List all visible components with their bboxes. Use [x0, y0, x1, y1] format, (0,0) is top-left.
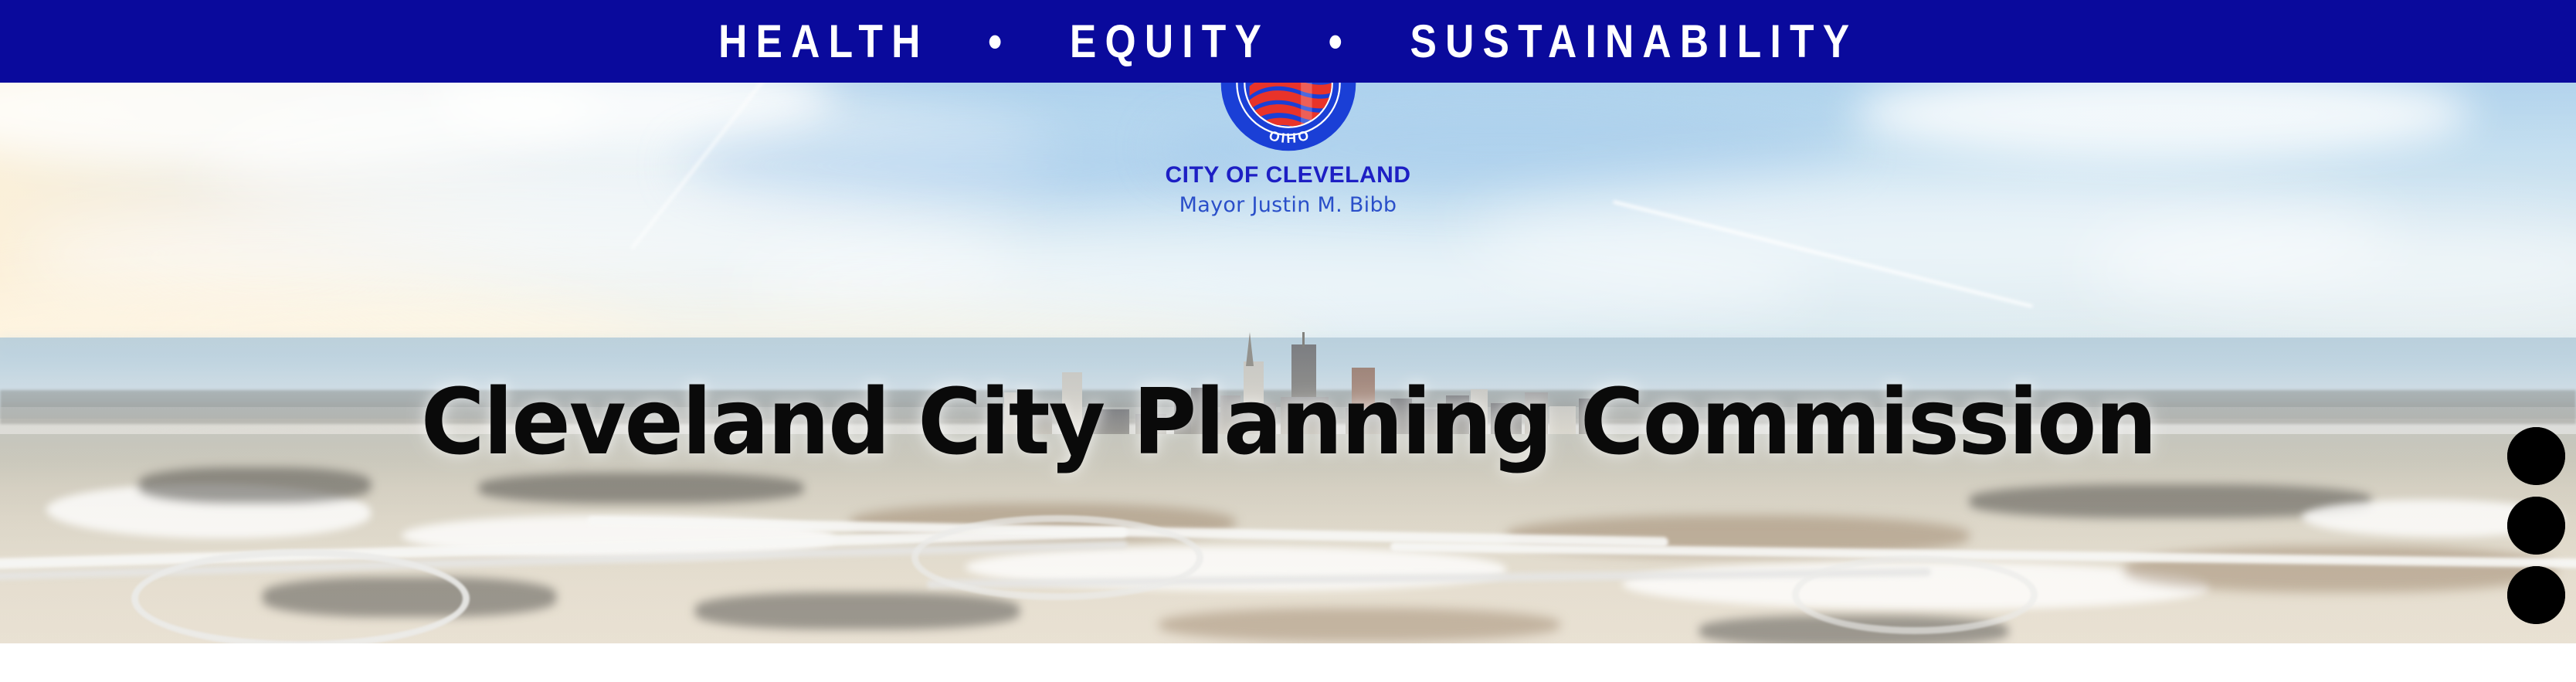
tagline-banner: HEALTH • EQUITY • SUSTAINABILITY: [0, 0, 2576, 83]
tagline-text: HEALTH • EQUITY • SUSTAINABILITY: [718, 19, 1858, 65]
downtown-skyline: [989, 339, 1622, 443]
youtube-link[interactable]: YouTube: [2507, 427, 2565, 485]
page-root: HEALTH • EQUITY • SUSTAINABILITY: [0, 0, 2576, 682]
mayor-name: Mayor Justin M. Bibb: [0, 195, 2576, 215]
instagram-link[interactable]: Instagram: [2507, 497, 2565, 555]
social-links: YouTube Instagram: [2505, 427, 2567, 624]
facebook-link[interactable]: Facebook: [2507, 566, 2565, 624]
city-wordmark: CITY OF CLEVELAND: [0, 164, 2576, 187]
